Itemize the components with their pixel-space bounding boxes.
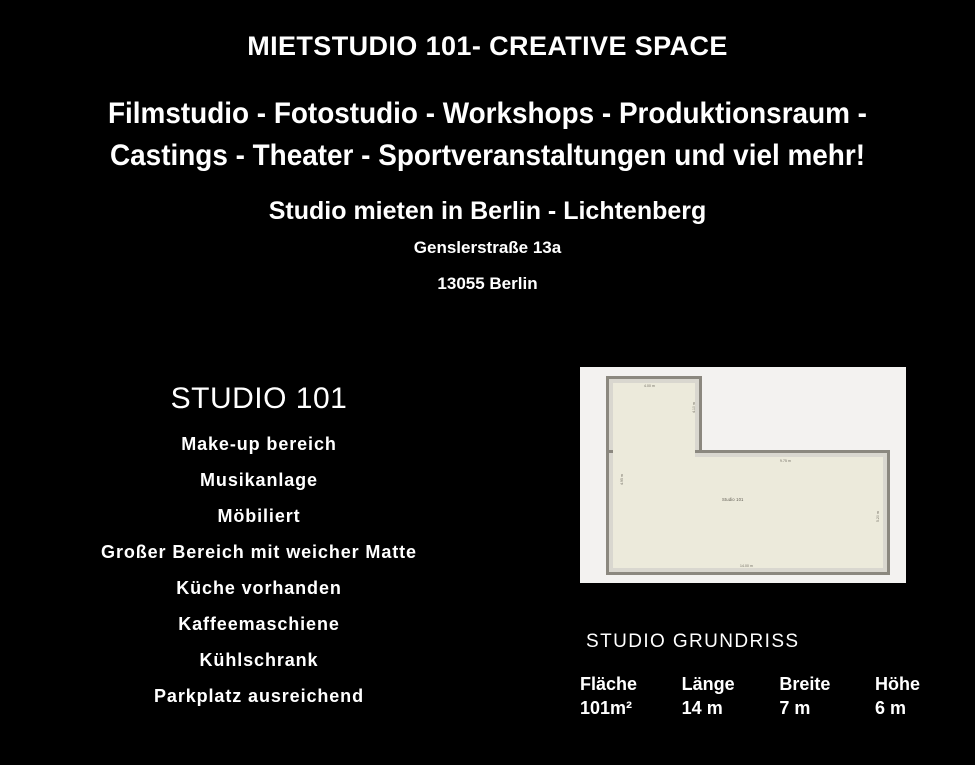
dimension-label-top-right: 9.75 m	[780, 459, 791, 463]
feature-item: Make-up bereich	[28, 426, 490, 462]
address-street: Genslerstraße 13a	[0, 236, 975, 260]
spec-label: Länge	[682, 673, 735, 696]
spec-value: 7 m	[779, 696, 830, 720]
spec-column-hoehe: Höhe 6 m	[875, 673, 920, 720]
room-fill-lower	[613, 457, 883, 568]
spec-column-flaeche: Fläche 101m²	[580, 673, 637, 720]
feature-item: Kaffeemaschiene	[28, 606, 490, 642]
spec-value: 101m²	[580, 696, 637, 720]
room-fill-junction	[613, 447, 695, 469]
page-title: MIETSTUDIO 101- CREATIVE SPACE	[0, 29, 975, 63]
features-section: STUDIO 101 Make-up bereich Musikanlage M…	[28, 381, 490, 714]
feature-item: Möbiliert	[28, 498, 490, 534]
floor-plan-drawing: 4.00 m 4.10 m 9.75 m 4.95 m 5.20 m 14.00…	[580, 367, 906, 583]
dimension-label-left-side: 4.95 m	[620, 474, 624, 485]
subtitle-line-2: Castings - Theater - Sportveranstaltunge…	[34, 135, 941, 177]
dimension-label-right-side: 5.20 m	[876, 511, 880, 522]
address-city: 13055 Berlin	[0, 272, 975, 296]
dimension-label-bottom: 14.00 m	[740, 564, 753, 568]
location-heading: Studio mieten in Berlin - Lichtenberg	[0, 195, 975, 227]
specs-table: Fläche 101m² Länge 14 m Breite 7 m Höhe …	[580, 673, 920, 720]
feature-item: Großer Bereich mit weicher Matte	[28, 534, 490, 570]
feature-item: Kühlschrank	[28, 642, 490, 678]
spec-column-laenge: Länge 14 m	[682, 673, 735, 720]
spec-label: Höhe	[875, 673, 920, 696]
spec-value: 6 m	[875, 696, 920, 720]
dimension-label-leg-right: 4.10 m	[692, 402, 696, 413]
spec-label: Fläche	[580, 673, 637, 696]
spec-value: 14 m	[682, 696, 735, 720]
floor-plan-caption: STUDIO GRUNDRISS	[586, 630, 799, 654]
floor-plan-image: 4.00 m 4.10 m 9.75 m 4.95 m 5.20 m 14.00…	[580, 367, 906, 583]
feature-item: Küche vorhanden	[28, 570, 490, 606]
dimension-label-top-left: 4.00 m	[644, 384, 655, 388]
poster-canvas: MIETSTUDIO 101- CREATIVE SPACE Filmstudi…	[0, 0, 975, 765]
spec-column-breite: Breite 7 m	[779, 673, 830, 720]
poster-subtitle: Filmstudio - Fotostudio - Workshops - Pr…	[34, 93, 941, 177]
room-name-label: Studio 101	[722, 497, 744, 502]
subtitle-line-1: Filmstudio - Fotostudio - Workshops - Pr…	[34, 93, 941, 135]
features-title: STUDIO 101	[28, 381, 490, 417]
spec-label: Breite	[779, 673, 830, 696]
room-fill-upper	[613, 383, 695, 457]
feature-item: Parkplatz ausreichend	[28, 678, 490, 714]
feature-item: Musikanlage	[28, 462, 490, 498]
